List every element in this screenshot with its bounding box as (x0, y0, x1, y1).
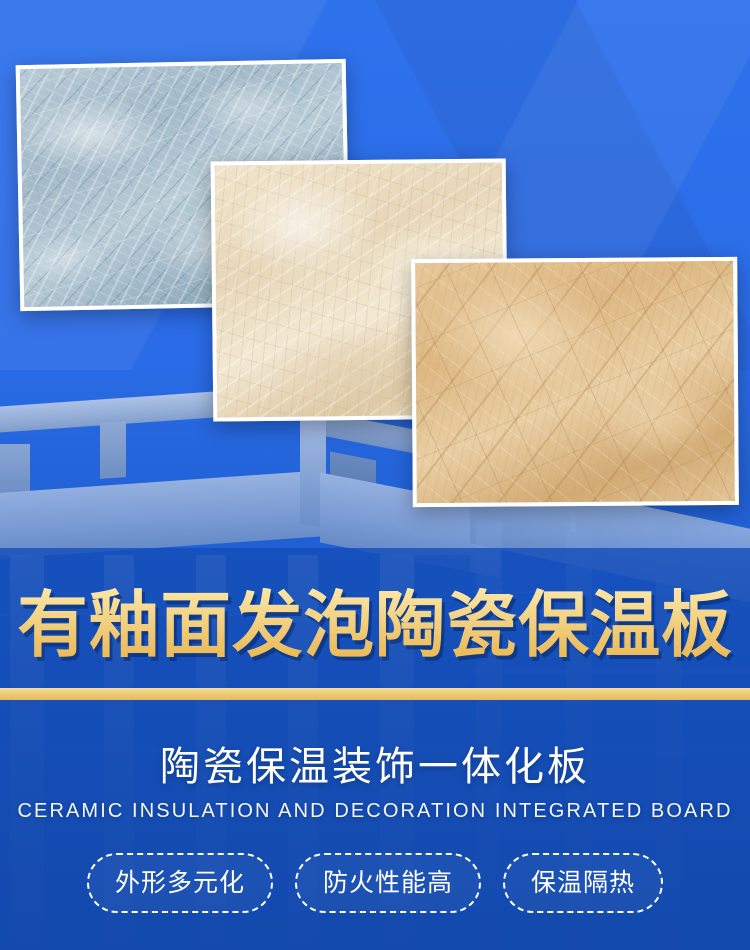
gold-divider (0, 688, 750, 700)
feature-pill-1: 外形多元化 (87, 853, 273, 913)
headline: 有釉面发泡陶瓷保温板 (8, 588, 743, 664)
tile-sample-3 (411, 257, 739, 507)
product-banner: 有釉面发泡陶瓷保温板 陶瓷保温装饰一体化板 CERAMIC INSULATION… (0, 0, 750, 950)
subtitle-chinese: 陶瓷保温装饰一体化板 (0, 742, 750, 792)
feature-pill-list: 外形多元化 防火性能高 保温隔热 (0, 853, 750, 913)
feature-pill-3: 保温隔热 (503, 853, 663, 913)
tile-texture-golden (415, 261, 735, 503)
feature-pill-2: 防火性能高 (295, 853, 481, 913)
subtitle-english: CERAMIC INSULATION AND DECORATION INTEGR… (0, 798, 750, 824)
